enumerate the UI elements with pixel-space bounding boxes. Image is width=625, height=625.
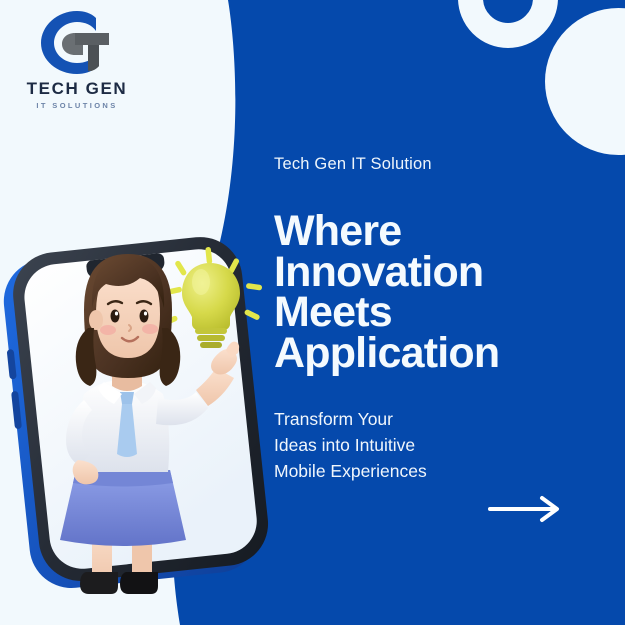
headline-line-4: Application [274,333,604,374]
arrow-right-icon[interactable] [488,495,564,523]
girl-pointing-at-lightbulb-illustration [0,232,292,625]
promo-banner: TECH GEN IT SOLUTIONS [0,0,625,625]
hero-illustration [0,232,292,625]
logo-tagline: IT SOLUTIONS [12,102,142,110]
ring-circle-outline-icon [458,0,558,48]
subcopy-line-3: Mobile Experiences [274,459,604,485]
headline-line-2: Innovation [274,252,604,293]
headline-line-3: Meets [274,292,604,333]
subheading: Transform Your Ideas into Intuitive Mobi… [274,407,604,485]
logo-name: TECH GEN [12,80,142,97]
subcopy-line-2: Ideas into Intuitive [274,433,604,459]
eyebrow-text: Tech Gen IT Solution [274,155,604,175]
solid-circle-decoration [545,8,625,155]
page-title: Where Innovation Meets Application [274,211,604,374]
hero-copy: Tech Gen IT Solution Where Innovation Me… [274,155,604,485]
brand-logo[interactable]: TECH GEN IT SOLUTIONS [12,8,142,110]
headline-line-1: Where [274,211,604,252]
tech-gen-monogram-icon [31,8,123,76]
subcopy-line-1: Transform Your [274,407,604,433]
